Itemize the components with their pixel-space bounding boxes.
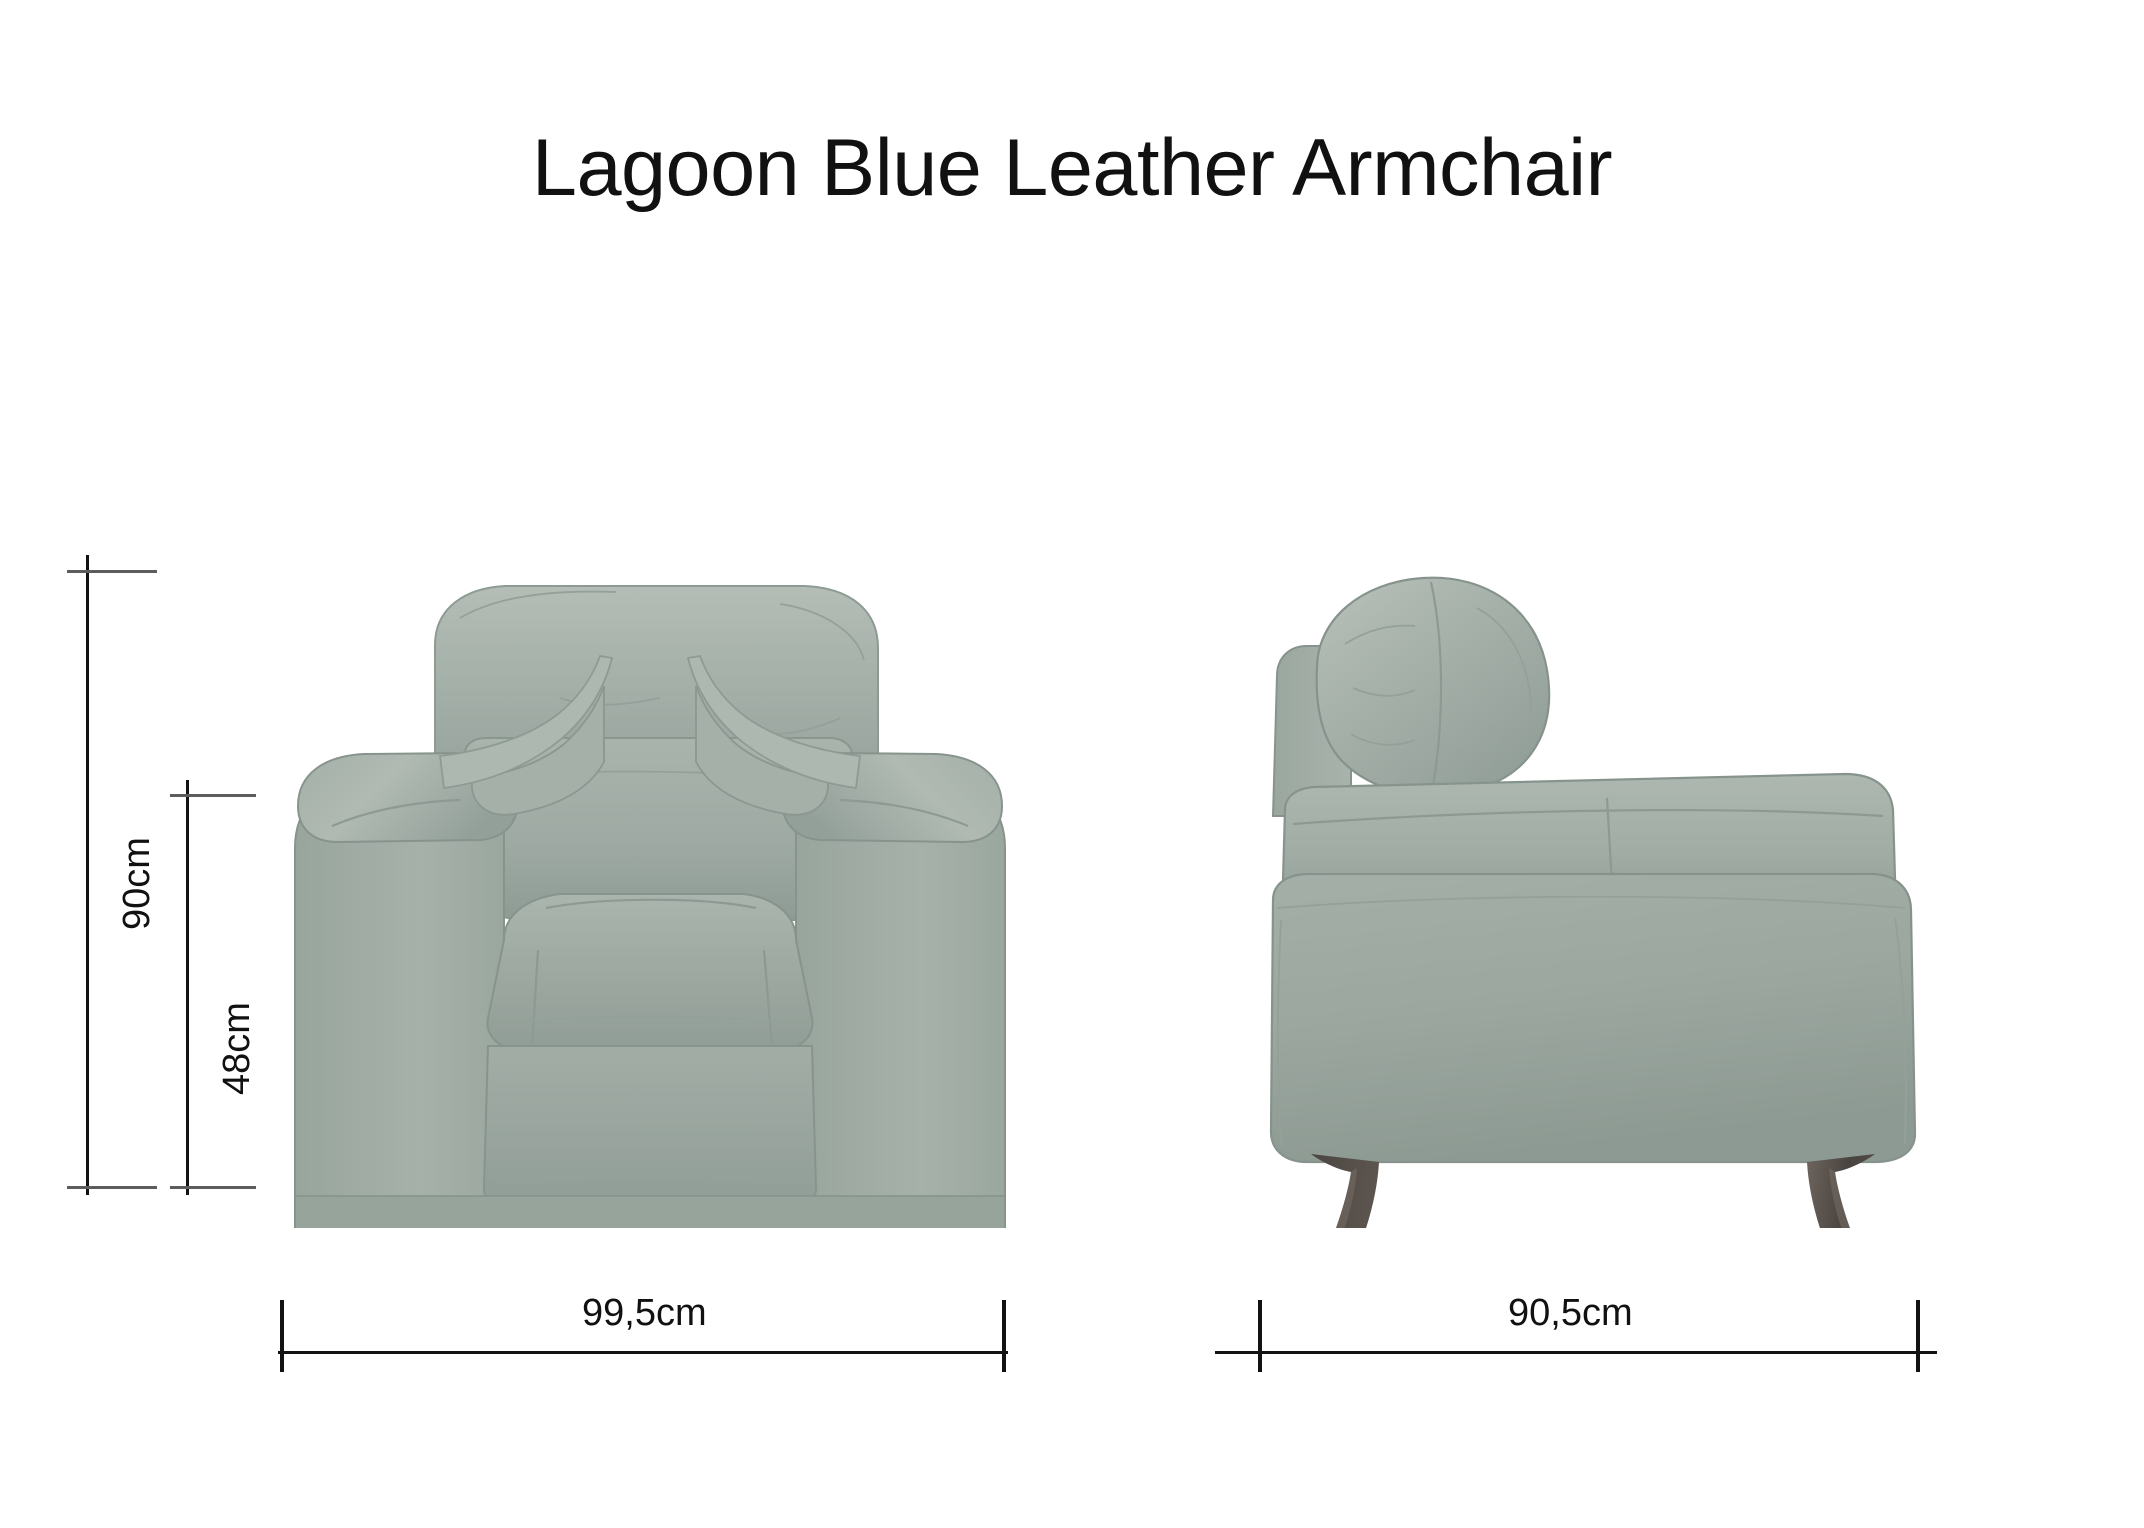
front-width-tick-left	[280, 1300, 284, 1372]
front-view	[260, 548, 1040, 1228]
side-depth-label: 90,5cm	[1508, 1294, 1633, 1332]
overall-height-line	[86, 555, 89, 1195]
side-view-illustration	[1255, 548, 1955, 1228]
overall-height-tick-top	[67, 570, 157, 573]
overall-height-label: 90cm	[118, 837, 156, 930]
front-view-illustration	[260, 548, 1040, 1228]
seat-height-tick-top	[170, 794, 256, 797]
side-depth-line	[1215, 1351, 1937, 1354]
front-width-line	[278, 1351, 1008, 1354]
front-width-label: 99,5cm	[582, 1294, 707, 1332]
overall-height-tick-bottom	[67, 1186, 157, 1189]
seat-height-tick-bottom	[170, 1186, 256, 1189]
side-depth-tick-left	[1258, 1300, 1262, 1372]
seat-height-line	[186, 780, 189, 1195]
front-width-tick-right	[1002, 1300, 1006, 1372]
side-view	[1255, 548, 1955, 1228]
seat-height-label: 48cm	[218, 1002, 256, 1095]
side-depth-tick-right	[1916, 1300, 1920, 1372]
page-title: Lagoon Blue Leather Armchair	[0, 128, 2144, 209]
product-dimension-diagram: Lagoon Blue Leather Armchair	[0, 0, 2144, 1528]
